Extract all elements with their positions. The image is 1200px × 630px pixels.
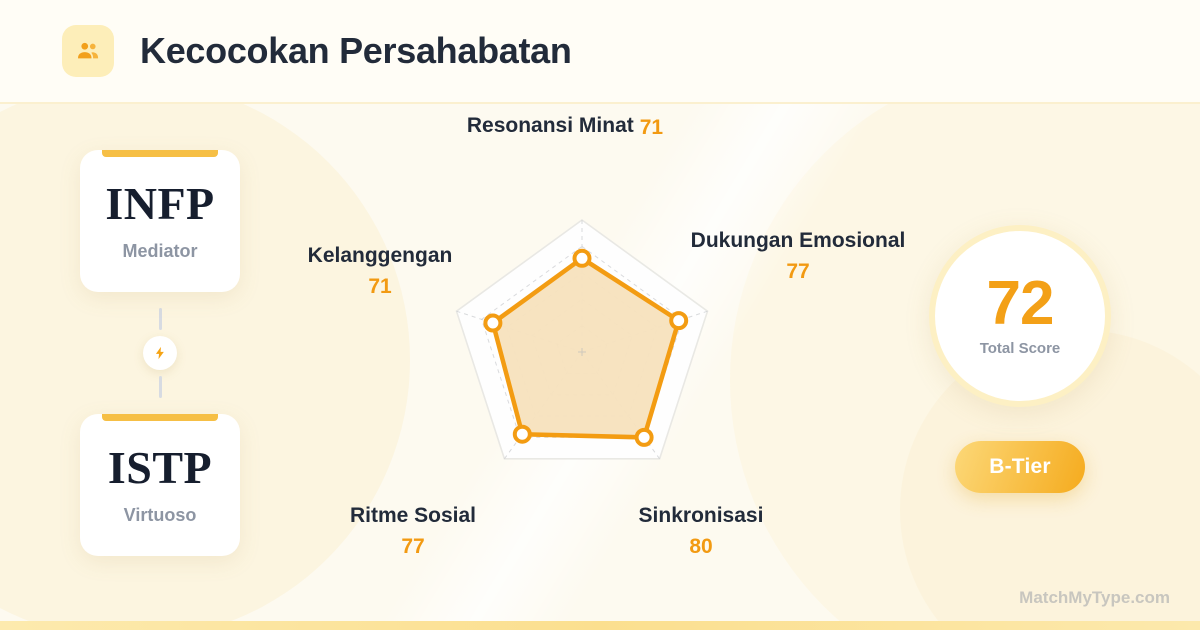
type-name-first: Mediator <box>122 241 197 262</box>
radar-axis-label-4: Kelanggengan 71 <box>260 244 500 299</box>
type-card-first[interactable]: INFP Mediator <box>80 150 240 292</box>
radar-axis-label-0: Resonansi Minat71 <box>450 114 680 140</box>
radar-axis-name-2: Sinkronisasi <box>639 504 764 527</box>
personality-types-column: INFP Mediator ISTP Virtuoso <box>80 150 240 556</box>
score-panel: 72 Total Score B-Tier <box>915 225 1125 493</box>
total-score-circle: 72 Total Score <box>929 225 1111 407</box>
tier-badge: B-Tier <box>955 441 1085 493</box>
total-score-value: 72 <box>987 275 1054 334</box>
type-code-first: INFP <box>105 181 214 227</box>
radar-axis-name-1: Dukungan Emosional <box>691 229 906 252</box>
radar-axis-name-0: Resonansi Minat <box>467 114 634 137</box>
radar-axis-value-1: 77 <box>688 260 908 284</box>
types-connector <box>143 292 177 414</box>
radar-axis-value-0: 71 <box>640 116 663 140</box>
radar-axis-value-4: 71 <box>260 275 500 299</box>
site-watermark: MatchMyType.com <box>1019 588 1170 608</box>
lightning-bolt-icon <box>143 336 177 370</box>
radar-axis-name-4: Kelanggengan <box>308 244 453 267</box>
type-name-second: Virtuoso <box>124 505 197 526</box>
page-header: Kecocokan Persahabatan <box>0 0 1200 104</box>
type-code-second: ISTP <box>108 445 212 491</box>
radar-axis-value-3: 77 <box>298 535 528 559</box>
people-group-icon <box>62 25 114 77</box>
radar-axis-label-2: Sinkronisasi 80 <box>586 504 816 559</box>
radar-chart: Resonansi Minat71 Dukungan Emosional 77 … <box>250 104 930 630</box>
bottom-accent-bar <box>0 621 1200 630</box>
radar-axis-value-2: 80 <box>586 535 816 559</box>
radar-axis-label-3: Ritme Sosial 77 <box>298 504 528 559</box>
connector-dash-top <box>159 308 162 330</box>
page-title: Kecocokan Persahabatan <box>140 30 572 72</box>
radar-axis-label-1: Dukungan Emosional 77 <box>688 229 908 284</box>
connector-dash-bottom <box>159 376 162 398</box>
total-score-caption: Total Score <box>980 340 1061 357</box>
type-card-second[interactable]: ISTP Virtuoso <box>80 414 240 556</box>
radar-axis-name-3: Ritme Sosial <box>350 504 476 527</box>
